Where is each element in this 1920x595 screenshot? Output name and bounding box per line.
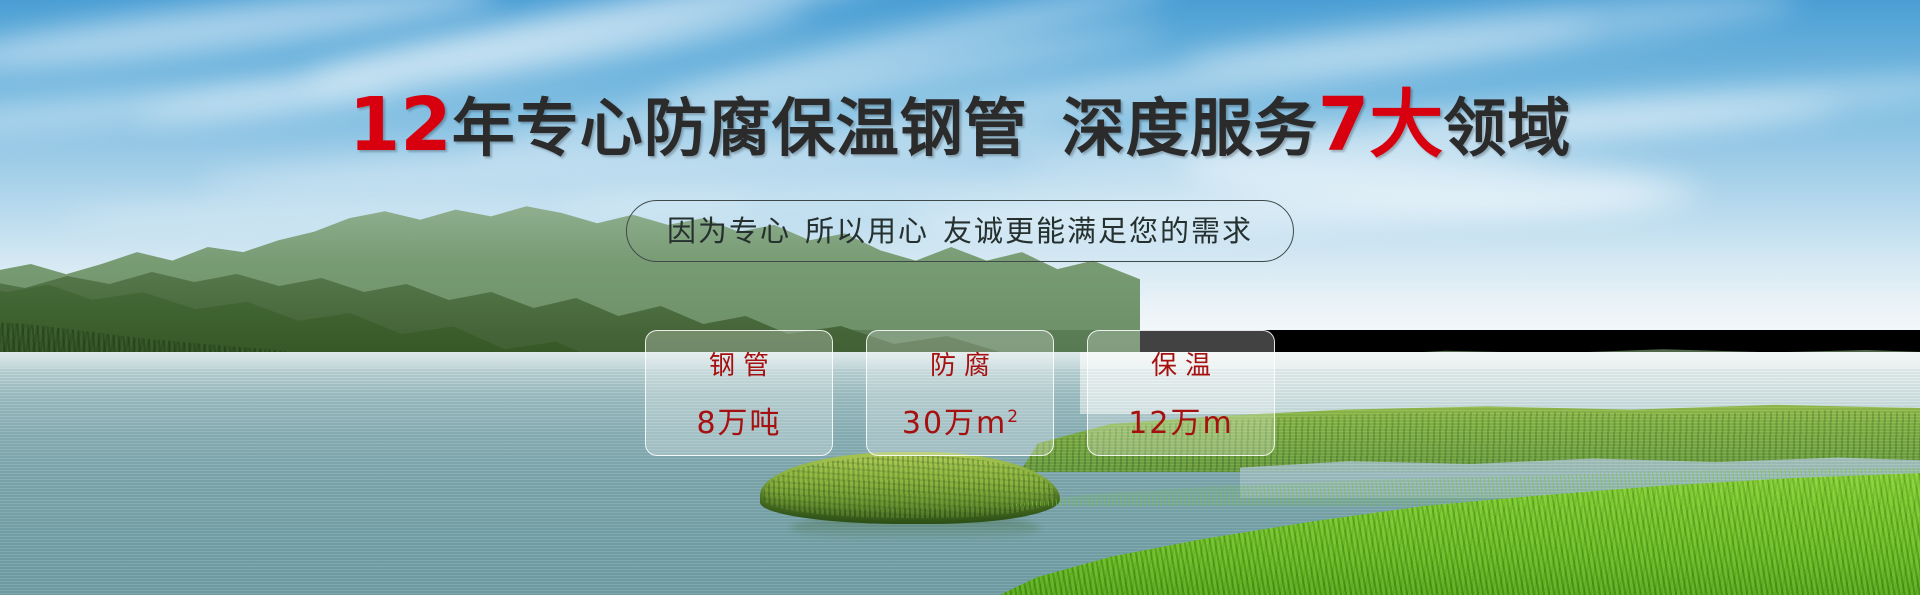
stat-card-value-text: 30万m	[902, 406, 1007, 441]
stat-card-label: 保温	[1143, 345, 1219, 382]
stat-card-group: 钢管 8万吨 防腐 30万m2 保温 12万m	[645, 330, 1275, 456]
hero-banner: 12年专心防腐保温钢管深度服务7大领域 因为专心所以用心友诚更能满足您的需求 钢…	[0, 0, 1920, 595]
subtitle-segment-1: 因为专心	[667, 214, 791, 248]
stat-card-steel-pipe[interactable]: 钢管 8万吨	[645, 330, 833, 456]
stat-card-value-text: 12万m	[1128, 406, 1233, 441]
stat-card-value-text: 8万吨	[696, 406, 781, 441]
stat-card-value: 8万吨	[696, 398, 781, 442]
stat-card-label: 钢管	[701, 345, 777, 382]
stat-card-label: 防腐	[922, 345, 998, 382]
subtitle-segment-2: 所以用心	[805, 214, 929, 248]
stat-card-value: 30万m2	[902, 398, 1018, 442]
subtitle-segment-3: 友诚更能满足您的需求	[943, 214, 1253, 248]
headline-text-part2: 深度服务	[1062, 92, 1318, 165]
headline-fields-number: 7大	[1318, 82, 1444, 168]
stat-card-value: 12万m	[1128, 398, 1233, 442]
headline-text-part1: 年专心防腐保温钢管	[452, 92, 1028, 165]
banner-headline: 12年专心防腐保温钢管深度服务7大领域	[0, 88, 1920, 162]
headline-text-part3: 领域	[1443, 92, 1571, 165]
stat-card-insulation[interactable]: 保温 12万m	[1087, 330, 1275, 456]
headline-years-number: 12	[349, 82, 452, 168]
stat-card-anticorrosion[interactable]: 防腐 30万m2	[866, 330, 1054, 456]
stat-card-value-superscript: 2	[1007, 407, 1018, 427]
subtitle-pill: 因为专心所以用心友诚更能满足您的需求	[626, 200, 1294, 262]
